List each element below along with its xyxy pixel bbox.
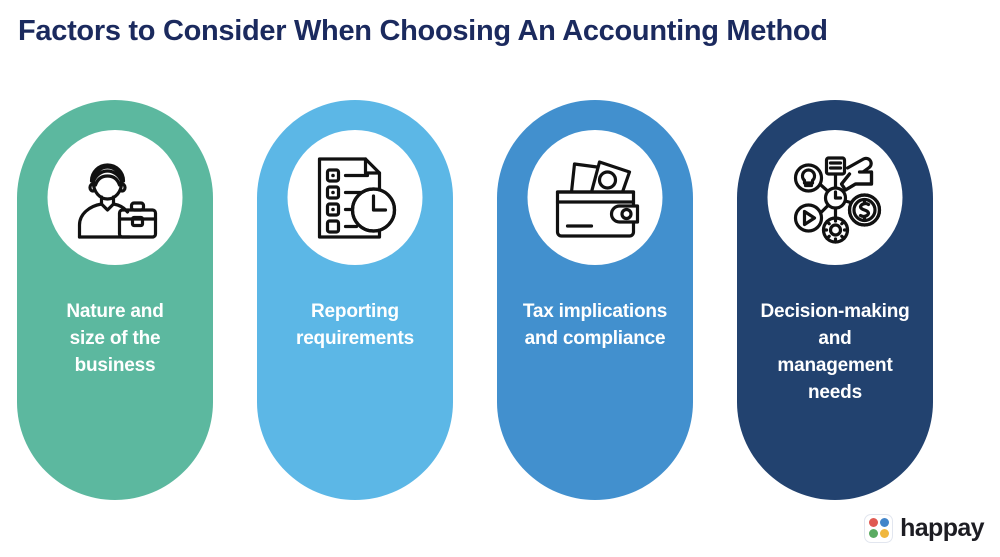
label-line: management xyxy=(743,352,927,379)
logo-dot-bottom-left xyxy=(869,529,878,538)
factor-card-list: Nature and size of the business xyxy=(17,100,983,500)
label-line: and xyxy=(743,325,927,352)
label-line: Reporting xyxy=(263,298,447,325)
factor-card-decision-making[interactable]: Decision-making and management needs xyxy=(737,100,933,500)
factor-card-label: Nature and size of the business xyxy=(23,298,207,379)
label-line: business xyxy=(23,352,207,379)
logo-dot-top-right xyxy=(880,518,889,527)
label-line: size of the xyxy=(23,325,207,352)
logo-dot-top-left xyxy=(869,518,878,527)
label-line: needs xyxy=(743,379,927,406)
factor-card-label: Reporting requirements xyxy=(263,298,447,352)
label-line: Nature and xyxy=(23,298,207,325)
happay-logo-mark-icon xyxy=(864,514,893,543)
factor-card-label: Decision-making and management needs xyxy=(743,298,927,406)
icon-circle xyxy=(528,130,663,265)
businessman-briefcase-icon xyxy=(69,157,161,239)
checklist-document-clock-icon xyxy=(311,155,399,241)
wallet-cash-icon xyxy=(547,156,643,240)
label-line: Tax implications xyxy=(503,298,687,325)
strategy-network-hub-icon xyxy=(787,152,883,244)
logo-dot-bottom-right xyxy=(880,529,889,538)
page-title: Factors to Consider When Choosing An Acc… xyxy=(18,13,828,49)
factor-card-tax-implications[interactable]: Tax implications and compliance xyxy=(497,100,693,500)
label-line: requirements xyxy=(263,325,447,352)
brand-name: happay xyxy=(900,515,984,542)
infographic-root: Factors to Consider When Choosing An Acc… xyxy=(0,0,1000,557)
factor-card-label: Tax implications and compliance xyxy=(503,298,687,352)
label-line: Decision-making xyxy=(743,298,927,325)
icon-circle xyxy=(768,130,903,265)
factor-card-reporting-requirements[interactable]: Reporting requirements xyxy=(257,100,453,500)
factor-card-nature-and-size[interactable]: Nature and size of the business xyxy=(17,100,213,500)
icon-circle xyxy=(48,130,183,265)
label-line: and compliance xyxy=(503,325,687,352)
brand-logo[interactable]: happay xyxy=(864,511,984,545)
icon-circle xyxy=(288,130,423,265)
